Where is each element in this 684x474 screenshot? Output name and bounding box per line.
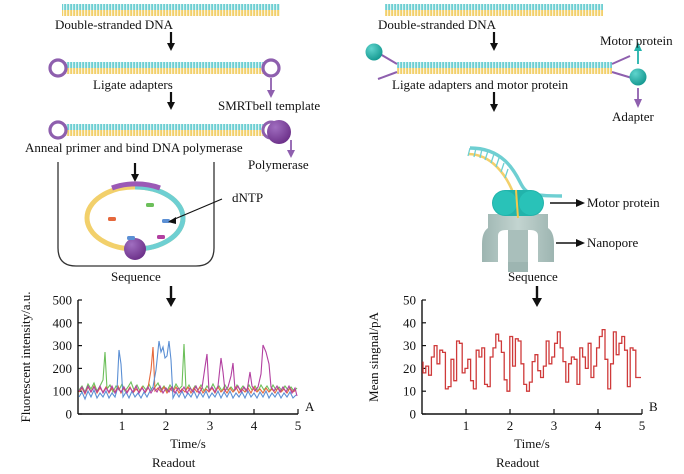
y-tick-b-30: 30 <box>403 338 416 353</box>
dntp-dot-blue-2 <box>127 236 135 240</box>
panel-a-smrt-sequencing: 0 100 200 300 400 500 1 2 3 4 5 A Fluore… <box>0 0 342 474</box>
x-tick-b-3: 3 <box>551 418 558 433</box>
arrow-down-3-b <box>532 286 542 307</box>
nanopore-step-trace <box>423 330 641 392</box>
y-tick-b-50: 50 <box>403 293 416 308</box>
y-tick-b-40: 40 <box>403 315 416 330</box>
motor-protein-left <box>366 44 383 61</box>
label-motor-protein-top: Motor protein <box>600 34 673 47</box>
chart-b: 0 10 20 30 40 50 1 2 3 4 5 B Mean singna… <box>366 293 658 452</box>
label-motor-protein-pore: Motor protein <box>587 196 660 209</box>
arrow-down-1-b <box>490 32 498 51</box>
dntp-dot-blue <box>162 219 170 223</box>
label-dsdna-a: Double-stranded DNA <box>55 18 173 31</box>
label-sequence-b: Sequence <box>508 270 558 283</box>
label-ligate-adapters-motor: Ligate adapters and motor protein <box>392 78 568 91</box>
x-axis-label-a: Time/s <box>170 436 206 451</box>
y-tick-a-500: 500 <box>53 293 73 308</box>
y-tick-b-0: 0 <box>410 407 417 422</box>
x-tick-a-4: 4 <box>251 418 258 433</box>
nanopore-body <box>482 214 554 262</box>
y-tick-a-300: 300 <box>53 338 73 353</box>
y-axis-label-a: Fluorescent intensity/a.u. <box>18 291 33 422</box>
motor-protein-right <box>630 69 647 86</box>
nanopore-channel <box>508 230 528 270</box>
label-readout-b: Readout <box>496 456 539 469</box>
label-smrtbell-template: SMRTbell template <box>218 99 320 112</box>
x-tick-b-5: 5 <box>639 418 646 433</box>
dntp-dot-orange <box>108 217 116 221</box>
polymerase-on-circle <box>124 238 146 260</box>
label-adapter: Adapter <box>612 110 654 123</box>
y-tick-a-0: 0 <box>66 407 73 422</box>
y-tick-a-100: 100 <box>53 384 73 399</box>
dntp-dot-green <box>146 203 154 207</box>
trace-magenta <box>79 345 297 396</box>
trace-blue <box>79 341 296 399</box>
dsdna-bar-top <box>62 4 280 16</box>
label-dsdna-b: Double-stranded DNA <box>378 18 496 31</box>
arrow-down-1 <box>167 32 175 51</box>
arrow-down-2 <box>167 92 175 110</box>
y-axis-label-b: Mean singnal/pA <box>366 311 381 402</box>
panel-letter-b: B <box>649 399 658 414</box>
panel-a-graphics: 0 100 200 300 400 500 1 2 3 4 5 A Fluore… <box>0 0 342 474</box>
panel-letter-a: A <box>305 399 315 414</box>
x-tick-b-4: 4 <box>595 418 602 433</box>
arrow-down-3 <box>131 163 139 182</box>
x-tick-a-5: 5 <box>295 418 302 433</box>
x-tick-a-3: 3 <box>207 418 214 433</box>
label-anneal-primer: Anneal primer and bind DNA polymerase <box>25 141 243 154</box>
arrow-down-2-b <box>490 92 498 112</box>
panel-b-nanopore-sequencing: 0 10 20 30 40 50 1 2 3 4 5 B Mean singna… <box>342 0 684 474</box>
label-nanopore: Nanopore <box>587 236 638 249</box>
x-tick-a-1: 1 <box>119 418 126 433</box>
nanopore-assembly <box>468 148 585 272</box>
x-tick-b-1: 1 <box>463 418 470 433</box>
y-tick-b-10: 10 <box>403 384 416 399</box>
y-tick-a-400: 400 <box>53 315 73 330</box>
label-sequence-a: Sequence <box>111 270 161 283</box>
trace-green <box>79 344 297 392</box>
dntp-dot-magenta <box>157 235 165 239</box>
x-tick-a-2: 2 <box>163 418 170 433</box>
zmw-well <box>58 162 214 266</box>
label-readout-a: Readout <box>152 456 195 469</box>
polymerase-blob <box>267 120 291 144</box>
dna-rungs <box>468 148 508 178</box>
label-ligate-adapters: Ligate adapters <box>93 78 173 91</box>
dsdna-bar-top-b <box>385 4 603 16</box>
label-dntp: dNTP <box>232 191 263 204</box>
x-tick-b-2: 2 <box>507 418 514 433</box>
y-tick-b-20: 20 <box>403 361 416 376</box>
x-axis-label-b: Time/s <box>514 436 550 451</box>
trace-orange <box>79 347 296 394</box>
label-polymerase: Polymerase <box>248 158 309 171</box>
adapter-motor-construct <box>366 42 647 108</box>
arrow-down-4 <box>166 286 176 307</box>
circular-smrtbell <box>87 184 222 260</box>
chart-a: 0 100 200 300 400 500 1 2 3 4 5 A Fluore… <box>18 291 315 451</box>
fluorescence-traces <box>79 341 297 399</box>
motor-protein-on-pore <box>492 190 544 216</box>
y-tick-a-200: 200 <box>53 361 73 376</box>
